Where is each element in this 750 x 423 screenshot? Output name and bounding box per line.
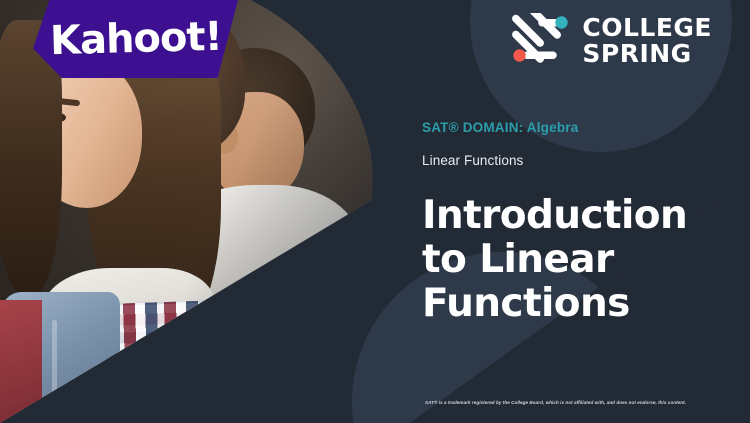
logo-dot-red-icon [514, 49, 526, 61]
college-spring-line-1: COLLEGE [582, 15, 712, 41]
kahoot-wordmark: Kahoot! [49, 14, 222, 64]
trademark-disclaimer: SAT® is a trademark registered by the Co… [425, 399, 735, 406]
slide-root: Kahoot! COLLEGE SPRING SAT® DOMAIN: Alge… [0, 0, 750, 423]
college-spring-wordmark: COLLEGE SPRING [582, 15, 712, 67]
text-panel: SAT® DOMAIN: Algebra Linear Functions In… [422, 120, 732, 326]
kahoot-logo-badge: Kahoot! [33, 0, 238, 78]
college-spring-mark-icon [511, 13, 569, 69]
college-spring-logo: COLLEGE SPRING [511, 13, 712, 69]
sat-domain-label: SAT® DOMAIN: Algebra [422, 120, 732, 135]
college-spring-line-2: SPRING [582, 41, 712, 67]
logo-dot-teal-icon [556, 16, 568, 28]
page-title: Introduction to Linear Functions [422, 194, 732, 326]
topic-label: Linear Functions [422, 153, 732, 168]
photo-backpack-strap [252, 295, 283, 423]
